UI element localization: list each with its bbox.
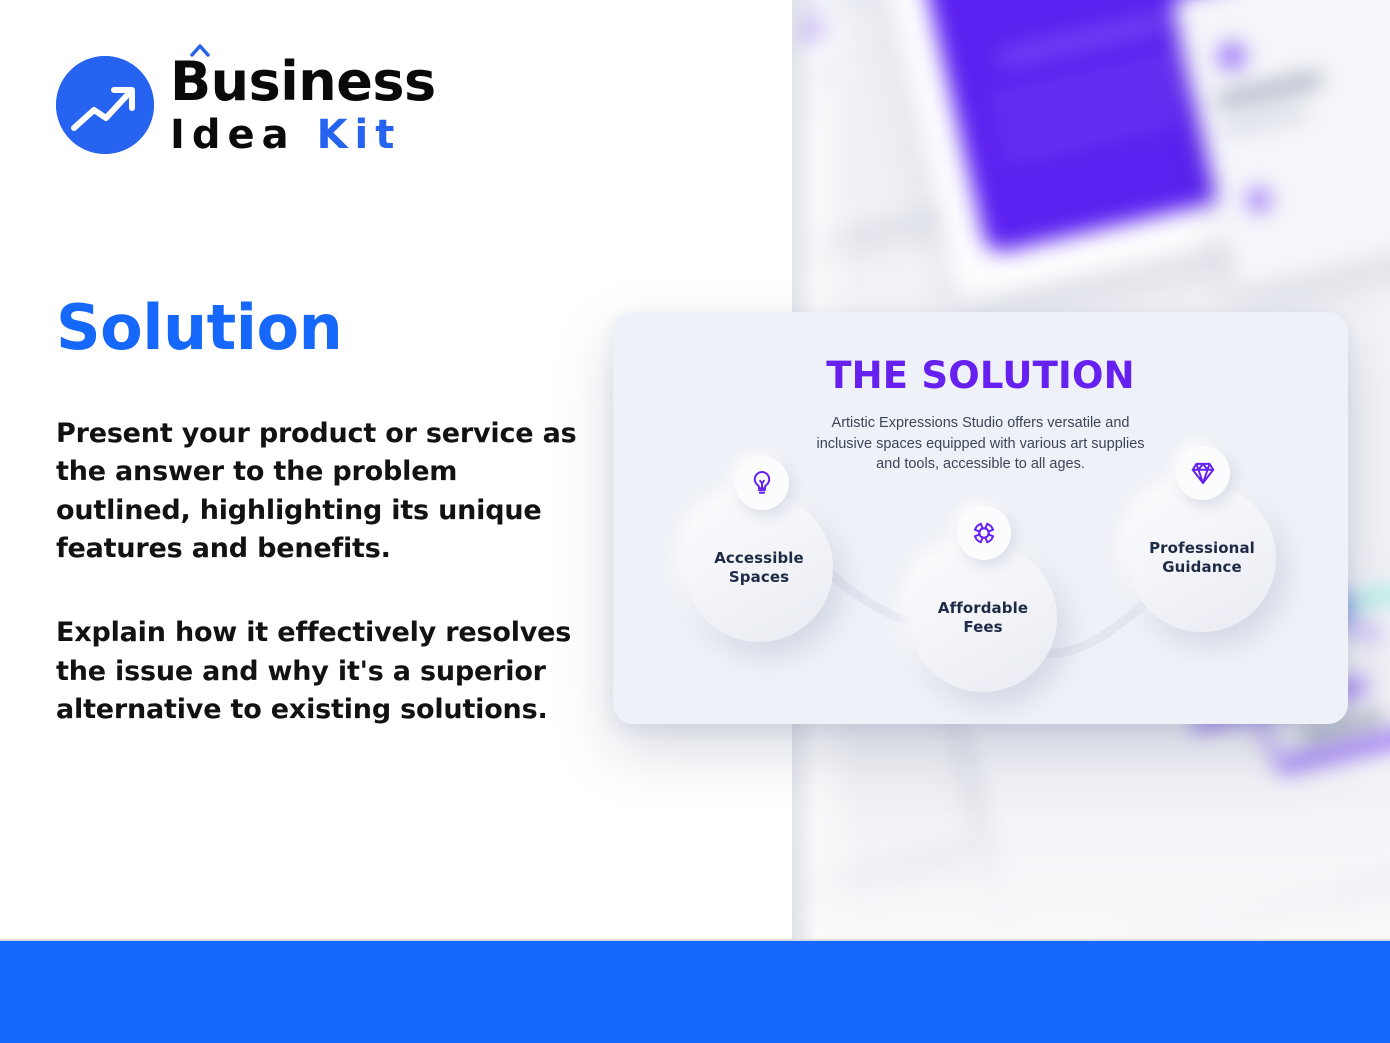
pillar-label-line1: Professional [1149, 539, 1255, 557]
pillar-circle: Affordable Fees [909, 544, 1057, 692]
pillar-circle: Professional Guidance [1128, 484, 1276, 632]
pillar-circle: Accessible Spaces [685, 494, 833, 642]
pillar-label-line1: Affordable [938, 599, 1028, 617]
pillar-label-line2: Spaces [729, 568, 789, 586]
pillar-professional-guidance: Professional Guidance [1128, 484, 1276, 632]
brand-wordmark: Business Idea Kit [170, 55, 436, 155]
pillars-group: Accessible Spaces [613, 462, 1348, 724]
pillar-label: Affordable Fees [938, 599, 1028, 637]
pillar-label-line2: Guidance [1162, 558, 1242, 576]
page-body-copy: Present your product or service as the a… [56, 415, 596, 729]
lightbulb-icon [735, 456, 789, 510]
brand-name-line2: Idea Kit [170, 115, 436, 155]
brand-name-line1: Business [170, 55, 436, 109]
brand-name-idea: Idea [170, 112, 317, 158]
pillar-label: Professional Guidance [1149, 539, 1255, 577]
brand-name-kit: Kit [317, 112, 402, 158]
pillar-label: Accessible Spaces [714, 549, 804, 587]
solution-preview-card: THE SOLUTION Artistic Expressions Studio… [613, 312, 1348, 724]
page-title: Solution [56, 295, 342, 360]
growth-arrow-icon [56, 56, 154, 154]
card-heading: THE SOLUTION [613, 354, 1348, 397]
slide-root: Business Idea Kit Solution Present your … [0, 0, 1390, 1043]
pillar-affordable-fees: Affordable Fees [909, 544, 1057, 692]
pillar-label-line2: Fees [963, 618, 1002, 636]
body-paragraph-2: Explain how it effectively resolves the … [56, 614, 596, 729]
lifebuoy-icon [957, 506, 1011, 560]
brand-logo: Business Idea Kit [56, 55, 436, 155]
pillar-accessible-spaces: Accessible Spaces [685, 494, 833, 642]
photo-bottom-fade [792, 791, 1390, 941]
body-paragraph-1: Present your product or service as the a… [56, 415, 596, 568]
diamond-icon [1176, 446, 1230, 500]
circumflex-accent-icon [190, 43, 210, 57]
pillar-label-line1: Accessible [714, 549, 804, 567]
footer-bar [0, 941, 1390, 1043]
